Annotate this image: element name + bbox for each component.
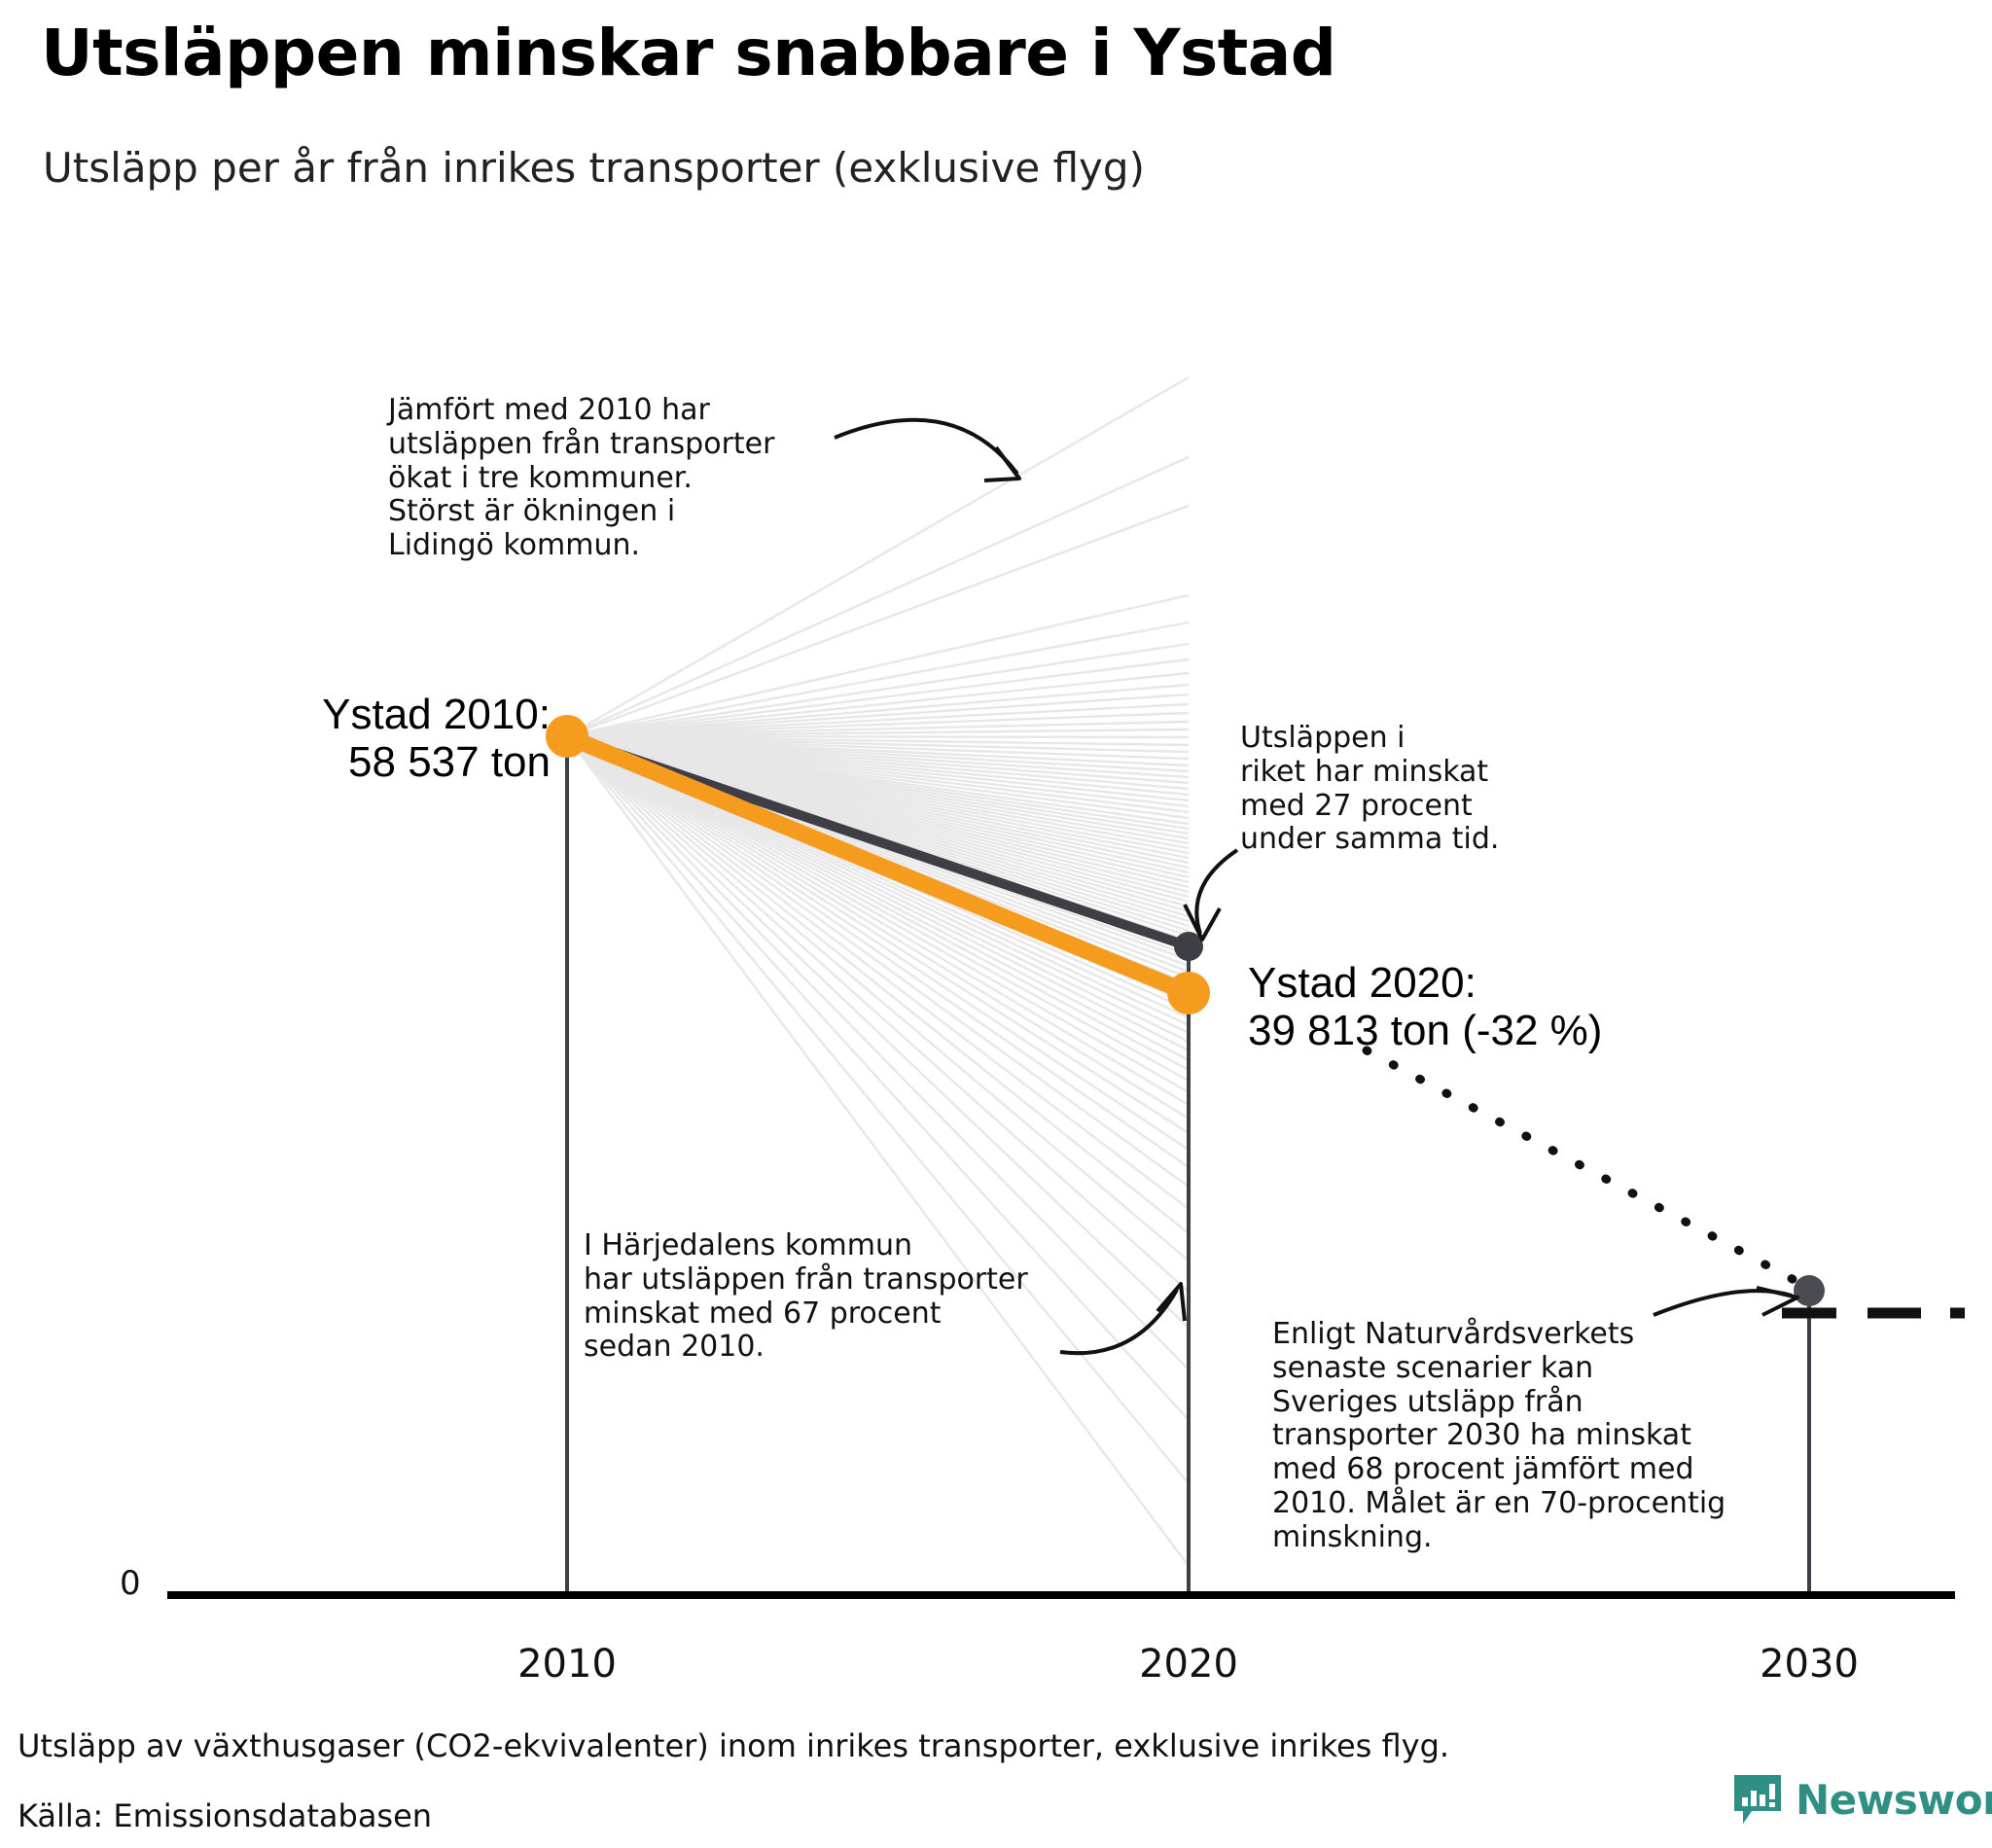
footer-source: Källa: Emissionsdatabasen xyxy=(18,1797,432,1834)
brand-name: Newsworthy xyxy=(1796,1776,1992,1824)
annotation-increase: Jämfört med 2010 har utsläppen från tran… xyxy=(388,394,774,563)
chart-plot-area xyxy=(0,0,1992,1848)
annotation-national-decline: Utsläppen i riket har minskat med 27 pro… xyxy=(1240,722,1499,857)
annotation-scenario-2030: Enligt Naturvårdsverkets senaste scenari… xyxy=(1272,1318,1725,1555)
arrow-to-increase-lines xyxy=(835,420,1019,480)
label-ystad-2010: Ystad 2010: 58 537 ton xyxy=(259,691,551,787)
arrow-to-harjedalen-line xyxy=(1060,1284,1185,1353)
annotation-harjedalen: I Härjedalens kommun har utsläppen från … xyxy=(584,1229,1028,1365)
arrow-to-2030-marker xyxy=(1654,1288,1797,1315)
x-tick-2020: 2020 xyxy=(1139,1642,1238,1687)
x-tick-2010: 2010 xyxy=(517,1642,617,1687)
arrow-to-riket-marker xyxy=(1185,850,1237,940)
brand-logo: Newsworthy xyxy=(1731,1772,1992,1827)
footer-note: Utsläpp av växthusgaser (CO2-ekvivalente… xyxy=(18,1727,1449,1764)
newsworthy-bubble-icon xyxy=(1731,1772,1784,1827)
x-tick-2030: 2030 xyxy=(1760,1642,1859,1687)
label-ystad-2020: Ystad 2020: 39 813 ton (-32 %) xyxy=(1248,959,1602,1055)
series-scenario-projection xyxy=(1367,1050,1965,1313)
y-axis-zero-label: 0 xyxy=(120,1564,141,1603)
